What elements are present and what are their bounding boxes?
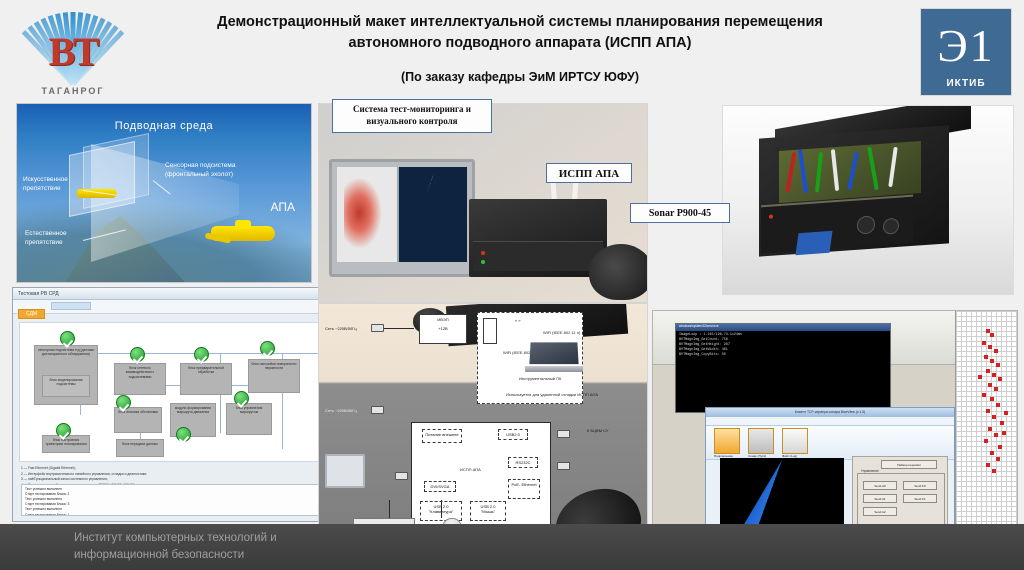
console-line: BVTMagnImg_CopyBits: 50: [679, 353, 887, 358]
wire-red: [786, 152, 797, 192]
laptop-photo: [525, 342, 583, 372]
sonar-target-point: [994, 387, 998, 391]
ispp-apa-unit-photo: [469, 199, 607, 277]
flow-block[interactable]: блок настройки поверхности неровности: [248, 359, 300, 393]
sonar-target-point: [982, 341, 986, 345]
console-window[interactable]: windows\system32\cmd.exe ImageLoop : 1.2…: [675, 323, 891, 413]
console-titlebar: windows\system32\cmd.exe: [676, 324, 890, 331]
photo-test-monitoring: [318, 103, 648, 303]
logo-vt-letters: ВТ: [18, 32, 128, 72]
label-natural-obstacle: Естественное препятствие: [25, 230, 87, 248]
status-led-icon: [481, 260, 485, 264]
sonar-target-point: [992, 415, 996, 419]
sonar-target-point: [1002, 431, 1006, 435]
node-rs232c[interactable]: RS232C: [508, 457, 538, 468]
flowchart-tab-blank[interactable]: [51, 302, 91, 310]
power-led-icon: [769, 214, 773, 218]
sonar-head-photo: [589, 244, 648, 300]
footer-line2: информационной безопасности: [74, 547, 277, 564]
label-power-net: Сеть ~220В/50Гц: [325, 326, 357, 331]
rack-interior: [779, 141, 921, 203]
callout-sonar: Sonar P900-45: [630, 203, 730, 223]
wire-green: [867, 147, 879, 191]
sonar-waterfall-view: [337, 167, 399, 262]
sonar-start-button[interactable]: [748, 428, 774, 454]
monitor-icon: [325, 454, 365, 488]
status-check-icon: [234, 391, 249, 406]
label-artificial-obstacle: Искусственное препятствие: [23, 176, 85, 194]
flowchart-app-window[interactable]: Тестовая РВ СРД СДМ сенсорная подсистема…: [12, 287, 338, 522]
log-file-button[interactable]: [782, 428, 808, 454]
iktib-label: ИКТИБ: [921, 78, 1011, 89]
sonar-client-titlebar: Клиент TCP-сервера сонара BlueView (v.1.…: [706, 408, 954, 417]
label-laptop: Инструментальный ПК: [519, 376, 561, 381]
console-output: ImageLoop : 1.245/196.74.1124ms BVTMagnI…: [676, 331, 890, 361]
sonar-target-point: [998, 377, 1002, 381]
flow-block[interactable]: блок предварительной обработки: [180, 363, 232, 395]
plug-icon: [371, 324, 384, 332]
node-dvi-svga[interactable]: DVI/SVGA: [424, 481, 456, 492]
logo-vt-city: ТАГАНРОГ: [18, 86, 128, 96]
wire-green: [815, 152, 823, 192]
node-psu-out: +12В: [422, 326, 464, 331]
plug-icon: [395, 472, 408, 480]
status-check-icon: [60, 331, 75, 346]
footer: Институт компьютерных технологий и инфор…: [0, 524, 1024, 570]
sonar-target-point: [984, 439, 988, 443]
wifi-antenna-icon: [483, 318, 497, 344]
status-check-icon: [116, 395, 131, 410]
underwater-title: Подводная среда: [17, 120, 311, 132]
log-line: Старт тестирования блока: 1: [25, 513, 329, 516]
sonar-target-point: [996, 457, 1000, 461]
cable: [384, 328, 414, 329]
send-a0-button[interactable]: Send A0: [863, 481, 897, 490]
sonar-target-point: [992, 373, 996, 377]
sonar-target-point: [988, 427, 992, 431]
sonar-target-point: [996, 363, 1000, 367]
timer-intercept-button[interactable]: Таймер-перехват: [881, 460, 937, 469]
flow-block[interactable]: блок передачи данных: [116, 439, 164, 457]
sonar-target-point: [996, 403, 1000, 407]
label-wifi-symbol: « »: [515, 318, 521, 323]
monitor-photo: [329, 159, 475, 277]
callout-ispp-apa: ИСПП АПА: [546, 163, 632, 183]
sonar-target-point: [992, 469, 996, 473]
wire-white: [888, 147, 898, 187]
send-f1-button[interactable]: Send F1: [903, 494, 937, 503]
label-apa: АПА: [271, 200, 296, 214]
node-poe-ethernet[interactable]: PoE- Ethernet: [508, 479, 540, 499]
sonar-target-point: [984, 355, 988, 359]
apa-vehicle-icon: [205, 218, 281, 248]
callout-test-monitoring: Система тест-мониторинга и визуального к…: [332, 99, 492, 133]
flow-block[interactable]: блок управления маршрутом: [226, 403, 272, 435]
header: ВТ ТАГАНРОГ Демонстрационный макет интел…: [0, 0, 1024, 100]
underwater-scene-panel: Подводная среда Сенсорная подсистема (фр…: [16, 103, 312, 283]
sonar-target-point: [978, 375, 982, 379]
sonar-target-point: [990, 451, 994, 455]
slide-root: ВТ ТАГАНРОГ Демонстрационный макет интел…: [0, 0, 1024, 570]
logo-iktib: Э1 ИКТИБ: [920, 8, 1012, 96]
connect-button[interactable]: [714, 428, 740, 454]
send-a1-button[interactable]: Send A1: [863, 494, 897, 503]
page-subtitle: (По заказу кафедры ЭиМ ИРТСУ ЮФУ): [140, 70, 900, 84]
title-block: Демонстрационный макет интеллектуальной …: [140, 12, 900, 84]
status-check-icon: [194, 347, 209, 362]
send-a2-button[interactable]: Send A2: [863, 507, 897, 516]
sonar-target-point: [988, 383, 992, 387]
power-led-icon: [481, 251, 485, 255]
sonar-target-point: [988, 345, 992, 349]
sonar-target-point: [986, 369, 990, 373]
footer-institute-name: Институт компьютерных технологий и инфор…: [74, 530, 277, 563]
send-f0-button[interactable]: Send F0: [903, 481, 937, 490]
node-power-external[interactable]: Питание внешнее: [422, 429, 462, 443]
control-group-label: Управление: [859, 469, 881, 473]
sonar-target-point: [990, 333, 994, 337]
flow-block[interactable]: блок сетевого взаимодействия с подсистем…: [114, 363, 166, 395]
sonar-fan-view: [399, 167, 467, 262]
label-to-bcvm: К БЦВМ СУ: [587, 428, 608, 433]
status-check-icon: [176, 427, 191, 442]
ispp-apa-block-title: ИСПП АПА: [460, 467, 481, 472]
flowchart-window-title: Тестовая РВ СРД: [13, 288, 337, 300]
sonar-target-point: [1000, 421, 1004, 425]
flowchart-tabbar[interactable]: СДМ: [13, 300, 337, 314]
plug-icon: [557, 430, 570, 438]
connector-icon: [883, 218, 899, 235]
node-psu-label: ИВЭП: [422, 317, 464, 322]
sonar-target-point: [990, 359, 994, 363]
sonar-target-point: [994, 349, 998, 353]
node-usb20-top[interactable]: USB2.0: [498, 429, 528, 440]
status-check-icon: [130, 347, 145, 362]
sonar-target-point: [998, 445, 1002, 449]
plug-icon: [371, 406, 384, 414]
sonar-target-point: [994, 433, 998, 437]
sonar-fan-cone: [408, 175, 459, 251]
cable: [389, 500, 390, 518]
flow-block-inner[interactable]: блок моделирования подсистемы: [42, 375, 90, 397]
label-power-net-2: Сеть ~220В/50Гц: [325, 408, 357, 413]
wire-blue: [798, 149, 808, 193]
sonar-target-point: [1004, 411, 1008, 415]
page-title-line1: Демонстрационный макет интеллектуальной …: [140, 12, 900, 33]
sonar-target-point: [982, 393, 986, 397]
cable: [441, 500, 442, 518]
status-check-icon: [260, 341, 275, 356]
flowchart-tab-sdm[interactable]: СДМ: [18, 309, 45, 319]
label-sensor-subsystem: Сенсорная подсистема (фронтальный эхолот…: [165, 162, 261, 180]
vga-connector: [795, 231, 832, 255]
label-wifi-a: WiFi (IEEE 802.11 n): [543, 330, 587, 335]
flowchart-canvas[interactable]: сенсорная подсистема гтд (датчики дистан…: [19, 322, 333, 462]
flow-block[interactable]: блок построения траектории планирования: [42, 435, 90, 453]
label-laptop-note: Используется для удаленной отладки ИСПП …: [497, 392, 607, 397]
ispp-apa-block[interactable]: ИСПП АПА Питание внешнее USB2.0 RS232C P…: [411, 422, 551, 528]
wire-blue: [847, 152, 859, 190]
footer-line1: Институт компьютерных технологий и: [74, 530, 277, 547]
sonar-client-menubar[interactable]: Сервис Работа Сервис: [706, 417, 954, 426]
status-check-icon: [56, 423, 71, 438]
connector-icon: [857, 215, 875, 234]
plug-icon: [557, 462, 570, 470]
sonar-client-ribbon[interactable]: Подключение Сонар (Пуск) Файл (Log): [706, 426, 954, 460]
iktib-mark-icon: Э1: [921, 17, 1011, 75]
node-usb-mouse[interactable]: USB 2.0 "Мышь": [470, 501, 506, 521]
photo-open-rack-unit: [722, 105, 1014, 295]
logo-vt-taganrog: ВТ ТАГАНРОГ: [18, 6, 128, 98]
monitor-screen: [337, 167, 467, 262]
wire-white: [831, 149, 839, 191]
sonar-target-point: [986, 409, 990, 413]
sonar-target-point: [986, 463, 990, 467]
flowchart-log-output[interactable]: Тест успешно выполнен Старт тестирования…: [21, 484, 333, 516]
page-title-line2: автономного подводного аппарата (ИСПП АП…: [140, 33, 900, 54]
sonar-target-point: [990, 397, 994, 401]
node-psu[interactable]: ИВЭП +12В: [419, 314, 467, 344]
